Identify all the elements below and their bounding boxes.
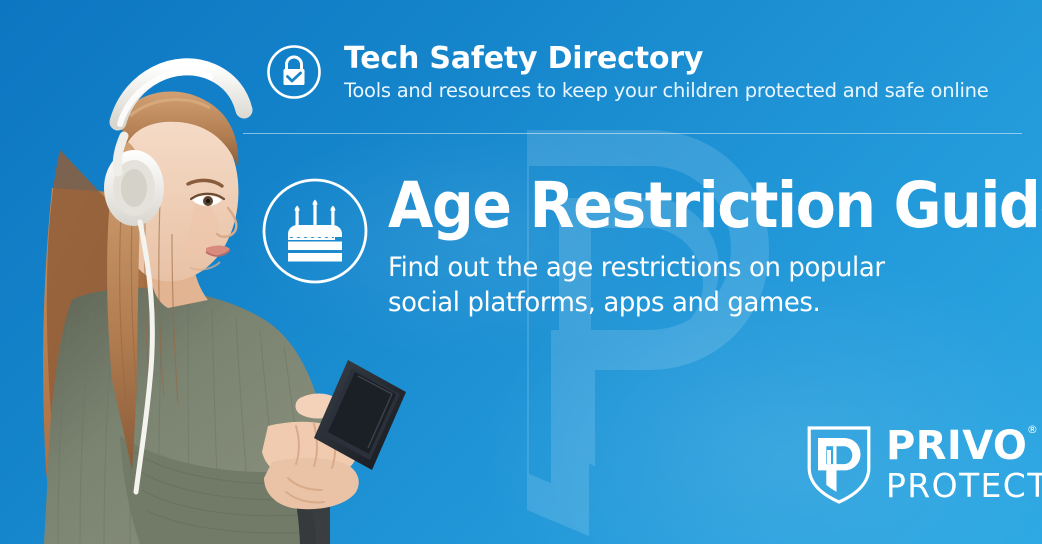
registered-mark: ® <box>1027 424 1038 435</box>
page-subtitle-line2: social platforms, apps and games. <box>388 285 1042 320</box>
logo-product: PROTECT <box>886 469 1042 503</box>
page-title: Age Restriction Guide <box>388 172 1042 240</box>
logo-brand-text: PRIVO <box>886 423 1027 469</box>
privo-shield-p-icon <box>806 424 872 504</box>
header-block: Tech Safety Directory Tools and resource… <box>266 42 989 103</box>
header-subtitle: Tools and resources to keep your childre… <box>344 78 989 103</box>
logo-brand: PRIVO® <box>886 426 1027 466</box>
main-block: Age Restriction Guide Find out the age r… <box>262 172 1042 320</box>
page-subtitle-line1: Find out the age restrictions on popular <box>388 250 1042 285</box>
header-divider <box>243 133 1022 134</box>
privo-protect-logo[interactable]: PRIVO® PROTECT <box>806 424 1042 504</box>
padlock-check-icon <box>266 44 322 100</box>
page-subtitle: Find out the age restrictions on popular… <box>388 250 1042 320</box>
tech-safety-directory-banner: Tech Safety Directory Tools and resource… <box>0 0 1042 544</box>
birthday-cake-icon <box>262 178 368 284</box>
header-title: Tech Safety Directory <box>344 42 989 76</box>
